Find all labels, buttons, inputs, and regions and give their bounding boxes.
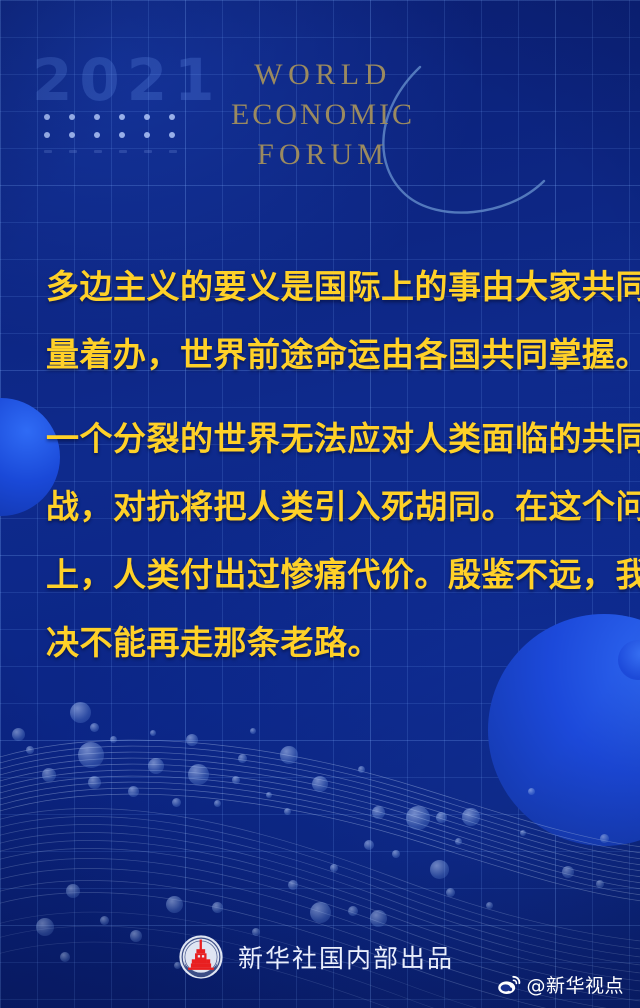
quote-line: 量着办，世界前途命运由各国共同掌握。 xyxy=(46,321,606,389)
quote-line: 上，人类付出过惨痛代价。殷鉴不远，我们 xyxy=(46,541,606,609)
poster-footer: 新华社国内部出品 @新华视点 xyxy=(0,896,640,1008)
wef-word-economic: ECONOMIC xyxy=(208,100,438,130)
brand-label: 新华社国内部出品 xyxy=(238,939,454,975)
world-economic-forum-logo: WORLD ECONOMIC FORUM xyxy=(208,52,438,187)
poster-canvas: 2021 WORLD ECONOMIC FORUM 多边主义的要义是国际上的事由… xyxy=(0,0,640,1008)
weibo-handle-label: @新华视点 xyxy=(526,971,624,998)
quote-paragraph-gap xyxy=(46,389,606,405)
brand-lockup: 新华社国内部出品 xyxy=(178,934,454,980)
weibo-handle-lockup[interactable]: @新华视点 xyxy=(497,971,624,998)
quote-line: 多边主义的要义是国际上的事由大家共同商 xyxy=(46,253,606,321)
wef-word-forum: FORUM xyxy=(208,140,438,170)
year-label: 2021 xyxy=(32,46,221,114)
xinhua-emblem-icon xyxy=(178,934,224,980)
quote-line: 决不能再走那条老路。 xyxy=(46,609,606,677)
poster-header: 2021 WORLD ECONOMIC FORUM xyxy=(0,0,640,210)
quote-block: 多边主义的要义是国际上的事由大家共同商 量着办，世界前途命运由各国共同掌握。 一… xyxy=(46,253,606,677)
quote-line: 一个分裂的世界无法应对人类面临的共同挑 xyxy=(46,405,606,473)
dot-matrix-icon xyxy=(44,114,194,168)
quote-line: 战，对抗将把人类引入死胡同。在这个问题 xyxy=(46,473,606,541)
weibo-icon xyxy=(497,975,521,995)
wef-word-world: WORLD xyxy=(208,60,438,90)
